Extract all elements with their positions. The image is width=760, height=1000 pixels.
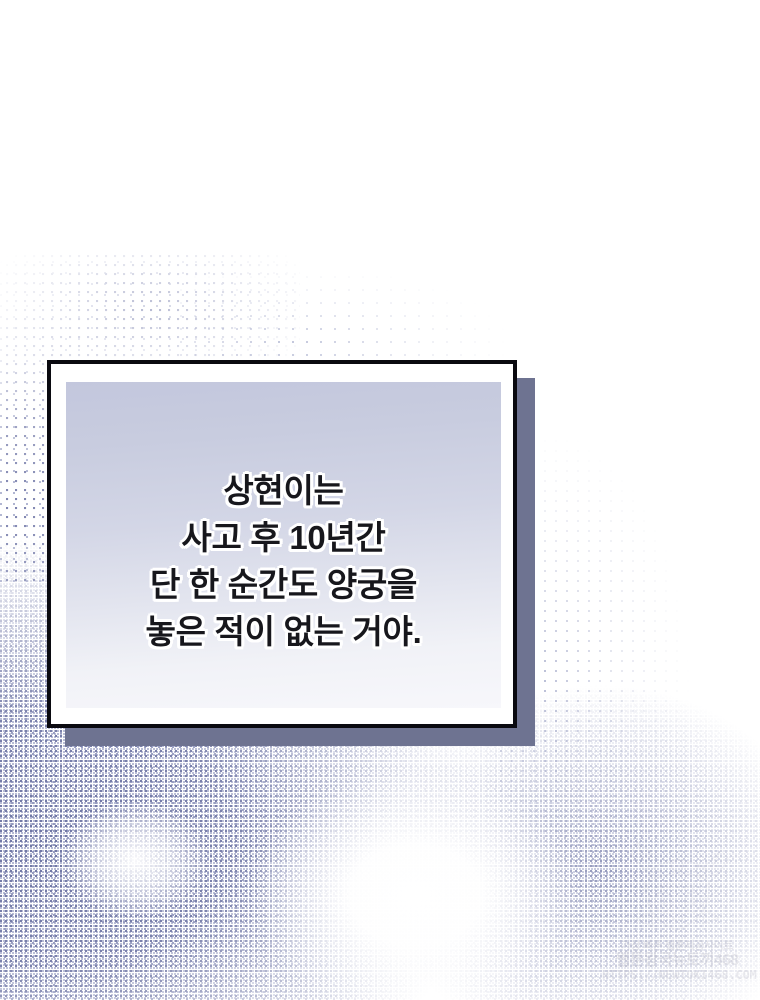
speckle-texture-right-flank (500, 430, 760, 850)
webtoon-page: 상현이는 사고 후 10년간 단 한 순간도 양궁을 놓은 적이 없는 거야. (0, 0, 760, 1000)
site-watermark: 가장 빠른 웹툰제공사이트 웹툰왕국뉴토끼468 HTTPS://NEWTOKI… (602, 834, 752, 982)
speckle-void-center (250, 770, 580, 1000)
panel-gradient-background: 상현이는 사고 후 10년간 단 한 순간도 양궁을 놓은 적이 없는 거야. (66, 382, 501, 708)
rabbit-mascot-icon (617, 834, 737, 939)
watermark-brand: 웹툰왕국뉴토끼468 (602, 953, 752, 970)
dialogue-text-block: 상현이는 사고 후 10년간 단 한 순간도 양궁을 놓은 적이 없는 거야. (66, 468, 501, 655)
watermark-url: HTTPS://NEWTOKI468.COM (602, 969, 752, 982)
dialogue-line-4: 놓은 적이 없는 거야. (66, 609, 501, 656)
dialogue-line-1: 상현이는 (66, 468, 501, 515)
comic-panel: 상현이는 사고 후 10년간 단 한 순간도 양궁을 놓은 적이 없는 거야. (47, 360, 517, 728)
dialogue-line-2: 사고 후 10년간 (66, 515, 501, 562)
dialogue-line-3: 단 한 순간도 양궁을 (66, 562, 501, 609)
watermark-tagline: 가장 빠른 웹툰제공사이트 (602, 941, 752, 953)
speckle-void-lower-left (60, 800, 210, 920)
